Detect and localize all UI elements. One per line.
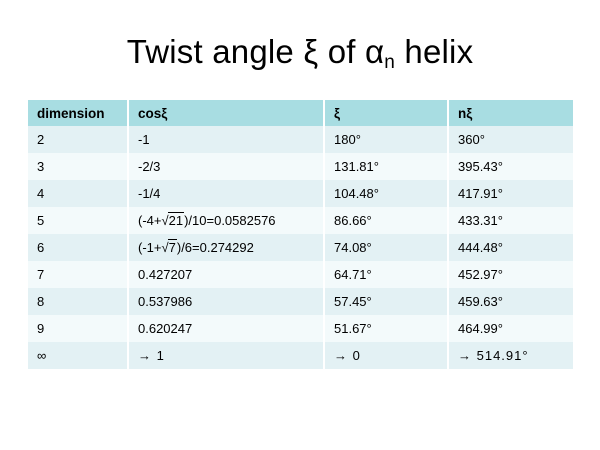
cell-xi: 74.08° bbox=[324, 234, 448, 261]
table-row: 3 -2/3 131.81° 395.43° bbox=[28, 153, 573, 180]
cell-xi: 51.67° bbox=[324, 315, 448, 342]
sqrt-radicand: 7 bbox=[168, 239, 177, 255]
cell-cos-xi: 0.620247 bbox=[128, 315, 324, 342]
cell-cos-xi: -1/4 bbox=[128, 180, 324, 207]
cell-xi: 57.45° bbox=[324, 288, 448, 315]
column-header-n-xi: nξ bbox=[448, 100, 573, 126]
twist-angle-table-container: dimension cosξ ξ nξ 2 -1 180° 360° 3 -2/… bbox=[28, 100, 573, 369]
cell-cos-xi: → 1 bbox=[128, 342, 324, 369]
slide-canvas: Twist angle ξ of αn helix dimension cosξ… bbox=[0, 0, 600, 450]
table-row: 6 (-1+√7)/6=0.274292 74.08° 444.48° bbox=[28, 234, 573, 261]
column-header-cos-xi: cosξ bbox=[128, 100, 324, 126]
cell-dimension: 9 bbox=[28, 315, 128, 342]
cell-dimension: ∞ bbox=[28, 342, 128, 369]
cell-dimension: 7 bbox=[28, 261, 128, 288]
twist-angle-table: dimension cosξ ξ nξ 2 -1 180° 360° 3 -2/… bbox=[28, 100, 573, 369]
cell-xi: 131.81° bbox=[324, 153, 448, 180]
page-title: Twist angle ξ of αn helix bbox=[0, 32, 600, 72]
title-subscript-n: n bbox=[384, 52, 395, 73]
table-row: 8 0.537986 57.45° 459.63° bbox=[28, 288, 573, 315]
cell-xi: 86.66° bbox=[324, 207, 448, 234]
sqrt-suffix: )/6=0.274292 bbox=[177, 240, 254, 255]
cell-cos-xi: 0.427207 bbox=[128, 261, 324, 288]
cell-n-xi: 417.91° bbox=[448, 180, 573, 207]
cell-n-xi: 444.48° bbox=[448, 234, 573, 261]
cell-dimension: 8 bbox=[28, 288, 128, 315]
cell-n-xi: 459.63° bbox=[448, 288, 573, 315]
table-row: 9 0.620247 51.67° 464.99° bbox=[28, 315, 573, 342]
title-prefix: Twist angle bbox=[127, 33, 304, 70]
cell-n-xi: → 514.91° bbox=[448, 342, 573, 369]
cell-xi: 64.71° bbox=[324, 261, 448, 288]
sqrt-expression: (-1+√7)/6=0.274292 bbox=[138, 240, 254, 255]
cell-n-xi: 452.97° bbox=[448, 261, 573, 288]
cell-cos-xi: (-4+√21)/10=0.0582576 bbox=[128, 207, 324, 234]
cell-dimension: 3 bbox=[28, 153, 128, 180]
cell-n-xi: 395.43° bbox=[448, 153, 573, 180]
title-suffix: helix bbox=[395, 33, 473, 70]
cell-xi: 104.48° bbox=[324, 180, 448, 207]
table-header-row: dimension cosξ ξ nξ bbox=[28, 100, 573, 126]
table-row: 4 -1/4 104.48° 417.91° bbox=[28, 180, 573, 207]
cell-xi: → 0 bbox=[324, 342, 448, 369]
table-row: ∞ → 1 → 0 → 514.91° bbox=[28, 342, 573, 369]
column-header-xi: ξ bbox=[324, 100, 448, 126]
cell-dimension: 5 bbox=[28, 207, 128, 234]
cell-cos-xi: (-1+√7)/6=0.274292 bbox=[128, 234, 324, 261]
cell-dimension: 4 bbox=[28, 180, 128, 207]
table-row: 5 (-4+√21)/10=0.0582576 86.66° 433.31° bbox=[28, 207, 573, 234]
sqrt-radicand: 21 bbox=[168, 212, 184, 228]
table-header: dimension cosξ ξ nξ bbox=[28, 100, 573, 126]
cell-xi: 180° bbox=[324, 126, 448, 153]
cell-dimension: 6 bbox=[28, 234, 128, 261]
table-body: 2 -1 180° 360° 3 -2/3 131.81° 395.43° 4 … bbox=[28, 126, 573, 369]
sqrt-prefix: (-4+√ bbox=[138, 213, 169, 228]
sqrt-suffix: )/10=0.0582576 bbox=[184, 213, 275, 228]
sqrt-prefix: (-1+√ bbox=[138, 240, 169, 255]
title-xi-symbol: ξ bbox=[303, 33, 318, 70]
cell-dimension: 2 bbox=[28, 126, 128, 153]
cell-cos-xi: -2/3 bbox=[128, 153, 324, 180]
cell-cos-xi: -1 bbox=[128, 126, 324, 153]
cell-n-xi: 464.99° bbox=[448, 315, 573, 342]
column-header-dimension: dimension bbox=[28, 100, 128, 126]
cell-cos-xi: 0.537986 bbox=[128, 288, 324, 315]
table-row: 7 0.427207 64.71° 452.97° bbox=[28, 261, 573, 288]
sqrt-expression: (-4+√21)/10=0.0582576 bbox=[138, 213, 276, 228]
cell-n-xi: 433.31° bbox=[448, 207, 573, 234]
cell-n-xi: 360° bbox=[448, 126, 573, 153]
title-middle: of α bbox=[318, 33, 384, 70]
table-row: 2 -1 180° 360° bbox=[28, 126, 573, 153]
